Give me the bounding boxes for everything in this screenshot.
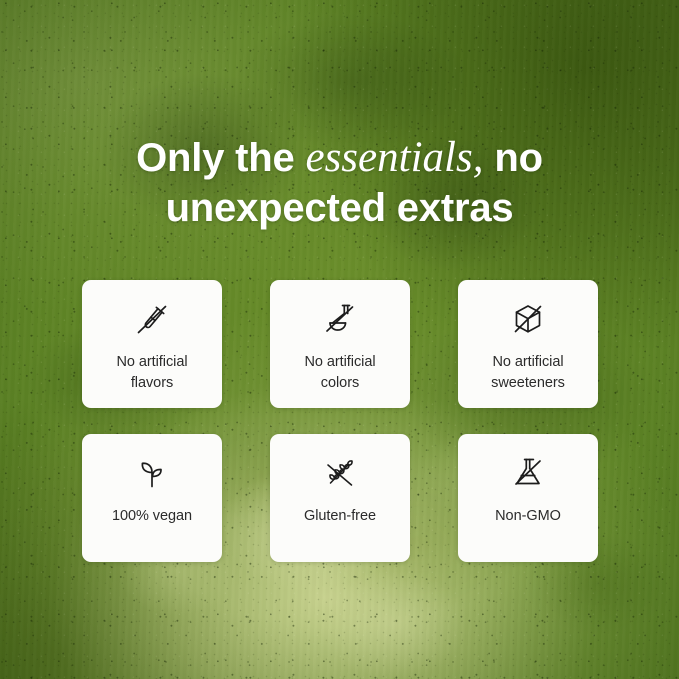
- benefit-card-no-artificial-flavors[interactable]: No artificial flavors: [82, 280, 222, 408]
- benefit-card-label: Gluten-free: [274, 506, 406, 527]
- benefit-label-line-1: No artificial: [304, 354, 375, 370]
- benefit-label-line-1: No artificial: [116, 354, 187, 370]
- benefit-label-line-1: No artificial: [492, 354, 563, 370]
- benefit-label-line-2: flavors: [131, 375, 173, 391]
- benefit-card-grid: No artificial flavors N: [82, 280, 598, 562]
- benefit-card-label: No artificial colors: [274, 352, 406, 394]
- benefit-card-no-artificial-colors[interactable]: No artificial colors: [270, 280, 410, 408]
- headline-line-2: unexpected extras: [0, 183, 679, 233]
- benefit-label-line-1: 100% vegan: [112, 508, 192, 524]
- benefit-card-no-artificial-sweeteners[interactable]: No artificial sweeteners: [458, 280, 598, 408]
- benefit-card-label: No artificial flavors: [86, 352, 218, 394]
- benefit-label-line-2: colors: [321, 375, 359, 391]
- benefit-card-label: No artificial sweeteners: [462, 352, 594, 394]
- benefit-card-non-gmo[interactable]: Non-GMO: [458, 434, 598, 562]
- benefit-label-line-2: sweeteners: [491, 375, 565, 391]
- headline-emphasis: essentials,: [305, 134, 483, 181]
- benefit-card-vegan[interactable]: 100% vegan: [82, 434, 222, 562]
- benefit-label-line-1: Gluten-free: [304, 508, 376, 524]
- benefit-card-gluten-free[interactable]: Gluten-free: [270, 434, 410, 562]
- promo-graphic: Only the essentials, no unexpected extra…: [0, 0, 679, 679]
- benefit-label-line-1: Non-GMO: [495, 508, 561, 524]
- no-artificial-colors-icon: [317, 298, 363, 342]
- no-artificial-sweeteners-icon: [505, 298, 551, 342]
- no-artificial-flavors-icon: [129, 298, 175, 342]
- headline-text-after: no: [483, 136, 542, 180]
- sprout-icon: [129, 452, 175, 496]
- benefit-card-label: Non-GMO: [462, 506, 594, 527]
- non-gmo-flask-icon: [505, 452, 551, 496]
- headline-text-before: Only the: [136, 136, 305, 180]
- gluten-free-wheat-icon: [317, 452, 363, 496]
- headline-line-1: Only the essentials, no: [0, 133, 679, 183]
- benefit-card-label: 100% vegan: [86, 506, 218, 527]
- page-title: Only the essentials, no unexpected extra…: [0, 133, 679, 233]
